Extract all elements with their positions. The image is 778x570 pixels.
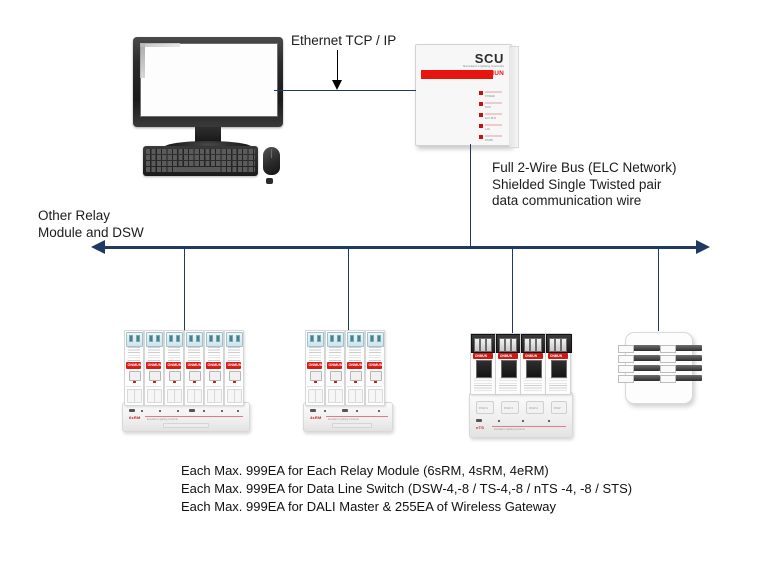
relay-group-1-base-label: 6sRM [129, 415, 140, 420]
ethernet-link-line [274, 90, 416, 91]
relay-module[interactable]: ONMUN [184, 330, 204, 406]
data-line-switch-module[interactable]: ONMUN [520, 333, 546, 395]
data-line-switch-group[interactable]: DSW-4 DSW-4 DSW-4 DSW nTS Excellent Ligh… [469, 333, 573, 438]
monitor-screen-highlight [140, 43, 145, 78]
relay-module[interactable]: ONMUN [305, 330, 325, 406]
scu-side-panel [509, 46, 519, 148]
data-line-switch-module[interactable]: ONMUN [545, 333, 571, 395]
relay-module-group-2[interactable]: 4sRM Excellent Lighting Controls ONMUN O… [303, 330, 393, 432]
caption-line-1: Each Max. 999EA for Each Relay Module (6… [181, 462, 549, 480]
scu-led-power: POWER [479, 91, 505, 95]
scu-led-elc-bus: ELC BUS [479, 113, 505, 117]
relay-module[interactable]: ONMUN [224, 330, 244, 406]
relay-module[interactable]: ONMUN [204, 330, 224, 406]
scu-bus-drop [470, 144, 471, 247]
relay-group-2-base: 4sRM Excellent Lighting Controls [303, 402, 393, 432]
drop-relay-group-1 [184, 247, 185, 331]
relay-module[interactable]: ONMUN [144, 330, 164, 406]
relay-module[interactable]: ONMUN [164, 330, 184, 406]
bus-arrow-left [91, 240, 105, 254]
scu-subtitle: Excellent Lighting Controls [463, 64, 504, 68]
scu-led-run: RUN [479, 102, 505, 106]
scu-led-lan: LAN [479, 124, 505, 128]
relay-group-1-base: 6sRM Excellent Lighting Controls [122, 402, 250, 432]
relay-module[interactable]: ONMUN [365, 330, 385, 406]
monitor-screen-highlight-top [140, 43, 180, 47]
dsw-base-label: nTS [476, 425, 484, 430]
keyboard [143, 146, 258, 176]
bus-arrow-right [696, 240, 710, 254]
ethernet-label: Ethernet TCP / IP [291, 33, 396, 50]
wireless-gateway[interactable] [625, 332, 693, 404]
scu-controller[interactable]: SCU Excellent Lighting Controls ONMUN PO… [415, 44, 512, 146]
relay-module[interactable]: ONMUN [345, 330, 365, 406]
relay-module[interactable]: ONMUN [124, 330, 144, 406]
network-diagram: SCU Excellent Lighting Controls ONMUN PO… [0, 0, 778, 570]
bus-note-label: Full 2-Wire Bus (ELC Network) Shielded S… [492, 160, 677, 210]
drop-relay-group-2 [348, 247, 349, 331]
relay-module[interactable]: ONMUN [325, 330, 345, 406]
scu-brand: ONMUN [478, 70, 504, 77]
usb-dongle [266, 178, 273, 184]
ethernet-arrow-head [332, 80, 342, 90]
data-line-switch-module[interactable]: ONMUN [470, 333, 496, 395]
data-line-switch-module[interactable]: ONMUN [495, 333, 521, 395]
dsw-base: DSW-4 DSW-4 DSW-4 DSW nTS Excellent Ligh… [469, 392, 573, 438]
ethernet-arrow-stem [337, 50, 338, 81]
relay-group-2-base-sub: Excellent Lighting Controls [328, 418, 359, 421]
drop-gateway [658, 247, 659, 331]
scu-led-rs485: RS485 [479, 135, 505, 139]
relay-module-group-1[interactable]: 6sRM Excellent Lighting Controls ONMUN O… [122, 330, 250, 432]
elc-bus-line [104, 246, 696, 249]
dsw-base-sub: Excellent Lighting Controls [494, 428, 525, 431]
caption-line-3: Each Max. 999EA for DALI Master & 255EA … [181, 498, 556, 516]
other-relay-label: Other Relay Module and DSW [38, 208, 144, 241]
caption-line-2: Each Max. 999EA for Data Line Switch (DS… [181, 480, 632, 498]
drop-dsw-group [512, 247, 513, 333]
mouse [263, 147, 280, 175]
monitor-screen [140, 43, 278, 117]
relay-group-2-base-label: 4sRM [310, 415, 321, 420]
relay-group-1-base-sub: Excellent Lighting Controls [147, 418, 178, 421]
